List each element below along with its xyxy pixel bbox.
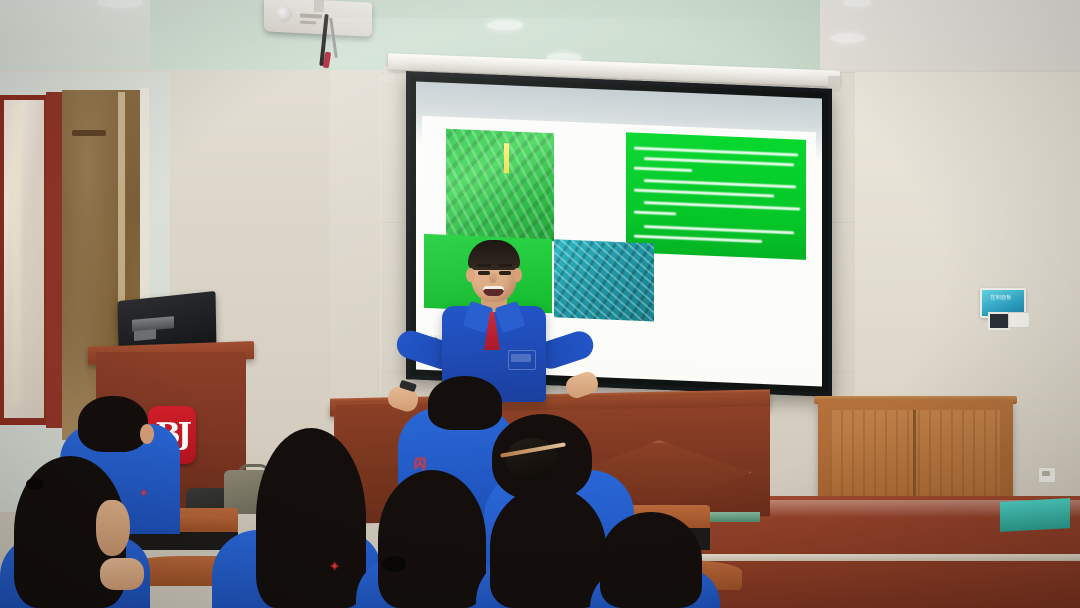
slide-text-panel: [626, 132, 806, 260]
audience-ear: [140, 424, 154, 444]
window-glass: [4, 100, 44, 418]
conference-room-photo: 清洁 控制面板 BJ: [0, 0, 1080, 608]
stage-riser: [700, 561, 1080, 608]
slide-bullet-line: [634, 147, 798, 157]
wall-panel-switch[interactable]: [1008, 312, 1030, 328]
audience-hair: [378, 470, 486, 608]
audience-hair: [256, 428, 366, 608]
desk-device[interactable]: [1000, 498, 1070, 532]
hair-tie: [382, 556, 406, 572]
pillar-vent-slot: [72, 130, 106, 136]
slide-image-highlight: [504, 143, 509, 173]
presenter-eyebrow: [498, 264, 512, 267]
presenter-badge: [511, 354, 531, 362]
ceiling-downlight: [831, 33, 865, 43]
wall-panel-display: [988, 312, 1010, 330]
projector-lens-icon: [276, 6, 292, 23]
monitor-stand: [134, 329, 156, 341]
slide-bullet-line: [644, 179, 796, 188]
presenter-nose: [489, 271, 497, 283]
cabinet-door-seam: [913, 410, 916, 500]
slide-bullet-line: [634, 167, 692, 172]
slide-bullet-line: [634, 189, 774, 198]
uniform-back-text: ✦: [140, 488, 149, 499]
slide-bullet-line: [634, 235, 762, 243]
window-light-streak: [12, 105, 21, 405]
slide-image-leaves: [554, 239, 654, 321]
presenter-eye: [499, 271, 511, 275]
slide-bullet-line: [644, 201, 800, 211]
presenter-ear: [466, 268, 475, 282]
slide-bullet-line: [634, 211, 676, 216]
audience-hair: [600, 512, 702, 608]
power-outlet-slot: [1042, 471, 1050, 476]
wall-panel-label: 控制面板: [984, 294, 1018, 301]
slide-bullet-line: [644, 157, 794, 166]
presenter-ear: [513, 268, 522, 282]
audience-hand: [100, 558, 144, 590]
audience-hair: [428, 376, 502, 430]
slide-image-sugarcane: [446, 129, 554, 242]
ceiling-downlight: [487, 20, 523, 30]
audience-hair: [490, 486, 606, 608]
stage-edge-trim: [700, 554, 1080, 561]
audience-face: [96, 500, 130, 556]
hair-tie: [26, 478, 44, 490]
presenter-mouth: [483, 286, 504, 296]
slide-bullet-line: [644, 225, 794, 234]
projector-mount: [314, 0, 324, 12]
presenter-eyebrow: [477, 264, 491, 267]
audience-hair: [78, 396, 148, 452]
uniform-back-text: ✦: [330, 560, 340, 573]
window-mullion: [46, 92, 62, 428]
